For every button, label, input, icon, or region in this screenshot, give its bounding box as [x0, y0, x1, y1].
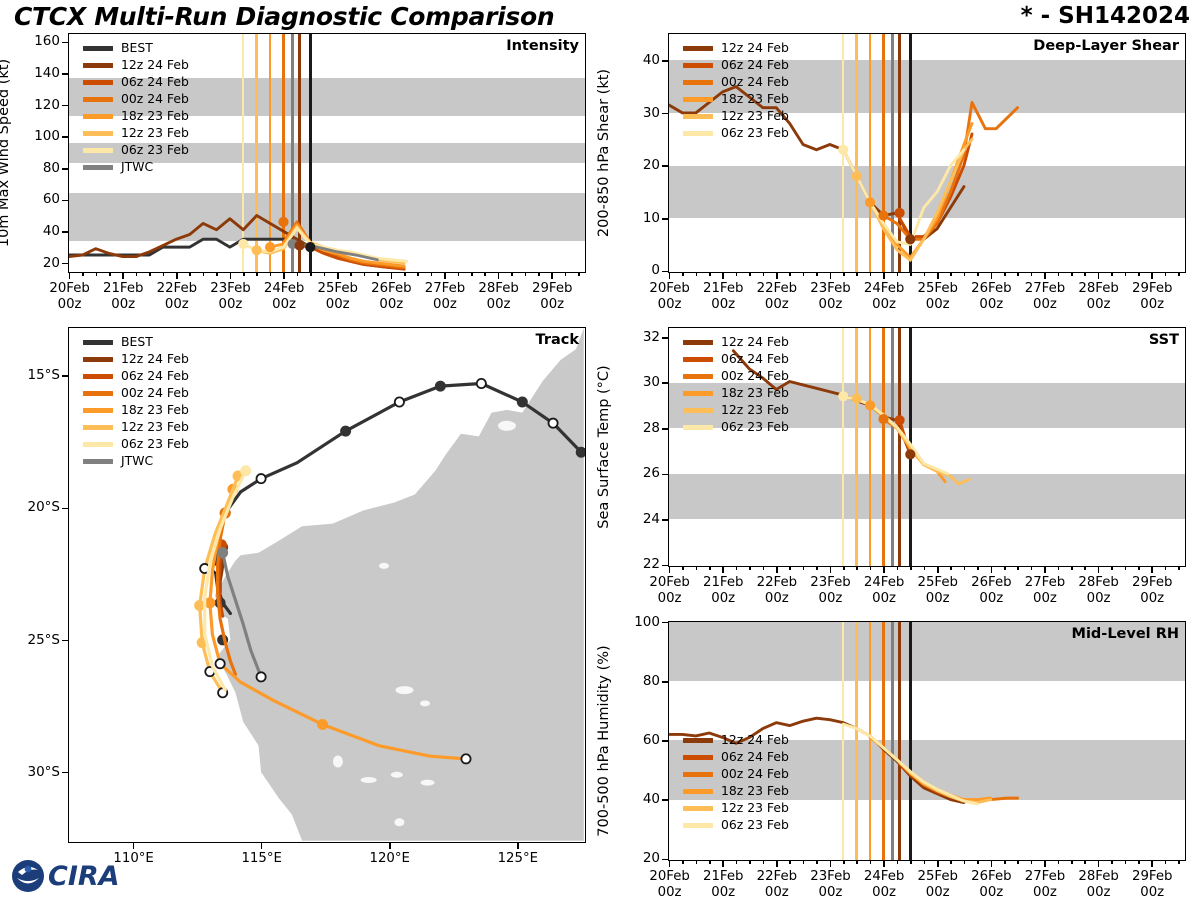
x-minor-tick: [149, 272, 151, 276]
legend-swatch: [683, 340, 713, 345]
legend-swatch: [83, 408, 113, 413]
legend-sst: 12z 24 Feb06z 24 Feb00z 24 Feb18z 23 Feb…: [683, 334, 789, 436]
legend-label: 06z 24 Feb: [721, 353, 789, 365]
x-minor-tick: [256, 272, 258, 276]
y-tick-mark: [662, 337, 669, 339]
x-minor-tick: [977, 566, 979, 570]
y-tick-label: 22: [622, 556, 660, 572]
x-tick-mark: [1044, 566, 1046, 573]
x-tick-mark: [830, 566, 832, 573]
legend-swatch: [83, 80, 113, 85]
y-tick-label: 40: [22, 223, 60, 239]
x-minor-tick: [1111, 860, 1113, 864]
legend-row: 12z 24 Feb: [83, 351, 189, 368]
y-tick-mark: [62, 105, 69, 107]
series-marker: [879, 415, 887, 423]
series-marker: [852, 394, 860, 402]
track-marker: [461, 754, 470, 763]
legend-swatch: [83, 148, 113, 153]
legend-swatch: [83, 131, 113, 136]
x-minor-tick: [1178, 566, 1180, 570]
legend-row: 12z 24 Feb: [683, 732, 789, 749]
legend-label: 12z 23 Feb: [121, 127, 189, 139]
series-marker: [266, 243, 274, 251]
track-marker: [577, 448, 586, 457]
x-minor-tick: [1178, 860, 1180, 864]
y-tick-label: 80: [622, 673, 660, 689]
x-minor-tick: [565, 272, 567, 276]
track-line: [215, 384, 581, 614]
y-tick-label: 100: [22, 128, 60, 144]
series-marker: [895, 416, 903, 424]
x-minor-tick: [816, 272, 818, 276]
legend-swatch: [83, 63, 113, 68]
legend-swatch: [83, 425, 113, 430]
y-tick-mark: [662, 681, 669, 683]
track-y-tick-label: 20°S: [6, 499, 60, 515]
x-minor-tick: [297, 272, 299, 276]
x-minor-tick: [1017, 860, 1019, 864]
track-y-tick-label: 30°S: [6, 764, 60, 780]
series-line: [843, 724, 977, 804]
x-minor-tick: [484, 272, 486, 276]
legend-row: 18z 23 Feb: [83, 108, 189, 125]
x-tick-mark: [1098, 272, 1100, 279]
legend-label: 12z 23 Feb: [721, 802, 789, 814]
x-minor-tick: [749, 566, 751, 570]
legend-swatch: [83, 46, 113, 51]
x-minor-tick: [1125, 860, 1127, 864]
series-marker: [839, 392, 847, 400]
x-tick-mark: [883, 860, 885, 867]
legend-row: 06z 24 Feb: [83, 368, 189, 385]
x-minor-tick: [538, 272, 540, 276]
legend-row: 00z 24 Feb: [683, 74, 789, 91]
track-marker: [477, 379, 486, 388]
track-y-tick-mark: [62, 772, 69, 774]
legend-row: 18z 23 Feb: [683, 91, 789, 108]
x-minor-tick: [924, 272, 926, 276]
x-minor-tick: [696, 272, 698, 276]
track-marker: [436, 382, 445, 391]
x-minor-tick: [763, 860, 765, 864]
legend-row: 00z 24 Feb: [683, 766, 789, 783]
track-x-tick-label: 120°E: [350, 851, 430, 867]
x-minor-tick: [682, 860, 684, 864]
legend-swatch: [83, 459, 113, 464]
y-tick-mark: [62, 168, 69, 170]
legend-row: 06z 23 Feb: [83, 142, 189, 159]
panel-title-intensity: Intensity: [506, 38, 579, 54]
x-minor-tick: [897, 272, 899, 276]
page-title: CTCX Multi-Run Diagnostic Comparison: [14, 2, 554, 31]
legend-swatch: [683, 789, 713, 794]
x-minor-tick: [216, 272, 218, 276]
y-tick-mark: [62, 200, 69, 202]
x-minor-tick: [803, 272, 805, 276]
x-minor-tick: [964, 566, 966, 570]
x-minor-tick: [82, 272, 84, 276]
x-minor-tick: [1111, 566, 1113, 570]
legend-swatch: [83, 165, 113, 170]
y-tick-label: 160: [22, 33, 60, 49]
x-minor-tick: [458, 272, 460, 276]
panel-intensity: IntensityBEST12z 24 Feb06z 24 Feb00z 24 …: [68, 33, 586, 273]
x-minor-tick: [1138, 566, 1140, 570]
x-minor-tick: [696, 860, 698, 864]
legend-swatch: [683, 425, 713, 430]
legend-label: 06z 23 Feb: [721, 819, 789, 831]
y-tick-label: 30: [622, 105, 660, 121]
y-tick-label: 0: [622, 262, 660, 278]
track-y-tick-label: 15°S: [6, 367, 60, 383]
x-tick-label: 29Feb00z: [1118, 869, 1186, 900]
legend-label: 00z 24 Feb: [121, 93, 189, 105]
legend-rh: 12z 24 Feb06z 24 Feb00z 24 Feb18z 23 Feb…: [683, 732, 789, 834]
x-minor-tick: [977, 860, 979, 864]
y-tick-label: 60: [22, 191, 60, 207]
y-tick-label: 40: [622, 52, 660, 68]
legend-label: 12z 24 Feb: [121, 59, 189, 71]
x-tick-mark: [991, 272, 993, 279]
y-tick-mark: [662, 218, 669, 220]
y-tick-mark: [62, 263, 69, 265]
series-marker: [839, 146, 847, 154]
legend-swatch: [683, 80, 713, 85]
x-minor-tick: [1017, 566, 1019, 570]
x-minor-tick: [243, 272, 245, 276]
legend-label: 18z 23 Feb: [721, 387, 789, 399]
x-minor-tick: [136, 272, 138, 276]
legend-label: 12z 24 Feb: [721, 336, 789, 348]
series-line: [884, 102, 1018, 239]
y-tick-mark: [62, 136, 69, 138]
legend-label: 06z 24 Feb: [121, 370, 189, 382]
x-minor-tick: [709, 566, 711, 570]
legend-row: 06z 24 Feb: [683, 57, 789, 74]
x-minor-tick: [1125, 272, 1127, 276]
x-minor-tick: [189, 272, 191, 276]
panel-sst: SST12z 24 Feb06z 24 Feb00z 24 Feb18z 23 …: [668, 327, 1186, 567]
track-marker: [195, 601, 204, 610]
x-tick-mark: [1151, 272, 1153, 279]
x-minor-tick: [1111, 272, 1113, 276]
panel-title-sst: SST: [1149, 332, 1179, 348]
x-tick-mark: [122, 272, 124, 279]
track-marker: [205, 598, 214, 607]
legend-swatch: [83, 357, 113, 362]
legend-swatch: [83, 114, 113, 119]
y-tick-label: 20: [22, 255, 60, 271]
x-minor-tick: [364, 272, 366, 276]
track-marker: [256, 474, 265, 483]
legend-label: 12z 24 Feb: [721, 734, 789, 746]
track-marker: [341, 426, 350, 435]
y-tick-mark: [662, 519, 669, 521]
y-axis-label-rh: 700-500 hPa Humidity (%): [596, 645, 612, 836]
x-minor-tick: [749, 860, 751, 864]
y-tick-label: 26: [622, 465, 660, 481]
legend-label: 00z 24 Feb: [721, 370, 789, 382]
series-marker: [279, 218, 287, 226]
y-tick-label: 30: [622, 374, 660, 390]
x-minor-tick: [163, 272, 165, 276]
x-minor-tick: [1058, 860, 1060, 864]
series-marker: [866, 401, 874, 409]
track-x-tick-label: 125°E: [478, 851, 558, 867]
legend-row: 12z 24 Feb: [683, 334, 789, 351]
legend-swatch: [683, 391, 713, 396]
legend-label: 00z 24 Feb: [121, 387, 189, 399]
x-minor-tick: [870, 272, 872, 276]
legend-row: 18z 23 Feb: [683, 783, 789, 800]
y-tick-mark: [62, 231, 69, 233]
x-minor-tick: [816, 860, 818, 864]
series-marker: [906, 235, 914, 243]
x-minor-tick: [870, 566, 872, 570]
x-tick-mark: [1098, 860, 1100, 867]
legend-row: 06z 24 Feb: [83, 74, 189, 91]
x-tick-mark: [551, 272, 553, 279]
x-minor-tick: [417, 272, 419, 276]
x-minor-tick: [1084, 860, 1086, 864]
x-tick-mark: [722, 860, 724, 867]
y-tick-label: 140: [22, 65, 60, 81]
x-minor-tick: [910, 860, 912, 864]
x-minor-tick: [749, 272, 751, 276]
y-tick-mark: [62, 42, 69, 44]
legend-swatch: [683, 131, 713, 136]
legend-swatch: [83, 391, 113, 396]
legend-row: 12z 23 Feb: [83, 419, 189, 436]
svg-text:CIRA: CIRA: [48, 861, 120, 892]
x-minor-tick: [1058, 566, 1060, 570]
track-marker: [518, 397, 527, 406]
x-minor-tick: [1071, 566, 1073, 570]
x-minor-tick: [1031, 566, 1033, 570]
y-tick-label: 80: [22, 160, 60, 176]
noaa-seal-icon: [12, 860, 44, 892]
x-minor-tick: [1165, 860, 1167, 864]
x-minor-tick: [1071, 860, 1073, 864]
legend-label: 06z 23 Feb: [121, 438, 189, 450]
x-minor-tick: [709, 272, 711, 276]
legend-row: JTWC: [83, 159, 189, 176]
track-x-tick-mark: [133, 842, 135, 849]
legend-label: 06z 23 Feb: [721, 127, 789, 139]
legend-row: BEST: [83, 40, 189, 57]
x-minor-tick: [910, 272, 912, 276]
x-tick-mark: [1098, 566, 1100, 573]
series-line: [857, 729, 991, 803]
x-minor-tick: [1084, 272, 1086, 276]
legend-swatch: [683, 772, 713, 777]
track-line: [210, 489, 466, 759]
x-tick-mark: [669, 566, 671, 573]
x-tick-mark: [498, 272, 500, 279]
legend-label: 06z 24 Feb: [121, 76, 189, 88]
track-marker: [241, 466, 250, 475]
x-minor-tick: [696, 566, 698, 570]
x-minor-tick: [1004, 566, 1006, 570]
y-tick-label: 24: [622, 511, 660, 527]
legend-label: 18z 23 Feb: [721, 93, 789, 105]
x-tick-mark: [830, 272, 832, 279]
x-minor-tick: [897, 860, 899, 864]
x-tick-mark: [830, 860, 832, 867]
x-minor-tick: [471, 272, 473, 276]
x-minor-tick: [843, 860, 845, 864]
legend-row: 06z 23 Feb: [83, 436, 189, 453]
y-tick-mark: [62, 73, 69, 75]
x-tick-mark: [669, 272, 671, 279]
legend-row: 18z 23 Feb: [83, 402, 189, 419]
x-tick-mark: [337, 272, 339, 279]
legend-label: 00z 24 Feb: [721, 768, 789, 780]
x-minor-tick: [924, 860, 926, 864]
x-minor-tick: [1138, 272, 1140, 276]
y-tick-label: 100: [622, 614, 660, 630]
track-marker: [318, 720, 327, 729]
y-tick-mark: [662, 165, 669, 167]
y-axis-label-intensity: 10m Max Wind Speed (kt): [0, 59, 12, 247]
x-tick-mark: [937, 566, 939, 573]
x-tick-mark: [1151, 566, 1153, 573]
x-tick-mark: [776, 272, 778, 279]
x-minor-tick: [870, 860, 872, 864]
x-tick-mark: [69, 272, 71, 279]
x-tick-mark: [669, 860, 671, 867]
legend-label: 06z 24 Feb: [721, 751, 789, 763]
y-tick-mark: [662, 113, 669, 115]
legend-swatch: [683, 97, 713, 102]
panel-title-track: Track: [536, 332, 579, 348]
series-line: [843, 396, 948, 473]
track-x-tick-mark: [389, 842, 391, 849]
x-tick-mark: [937, 272, 939, 279]
x-minor-tick: [1165, 566, 1167, 570]
track-marker: [395, 397, 404, 406]
x-minor-tick: [964, 860, 966, 864]
x-minor-tick: [856, 272, 858, 276]
x-tick-mark: [937, 860, 939, 867]
legend-swatch: [83, 374, 113, 379]
x-minor-tick: [1138, 860, 1140, 864]
series-line: [857, 399, 970, 484]
x-minor-tick: [525, 272, 527, 276]
track-marker: [216, 659, 225, 668]
x-minor-tick: [1031, 860, 1033, 864]
x-minor-tick: [803, 566, 805, 570]
series-marker: [852, 172, 860, 180]
series-line: [884, 748, 1018, 801]
x-tick-label: 29Feb00z: [1118, 575, 1186, 606]
legend-row: 18z 23 Feb: [683, 385, 789, 402]
track-y-tick-mark: [62, 508, 69, 510]
legend-row: 12z 23 Feb: [683, 402, 789, 419]
x-tick-mark: [991, 566, 993, 573]
x-tick-mark: [1044, 860, 1046, 867]
legend-row: 12z 24 Feb: [83, 57, 189, 74]
x-minor-tick: [709, 860, 711, 864]
y-tick-label: 28: [622, 420, 660, 436]
legend-swatch: [683, 374, 713, 379]
series-marker: [895, 209, 903, 217]
x-minor-tick: [1017, 272, 1019, 276]
x-minor-tick: [910, 566, 912, 570]
legend-row: 00z 24 Feb: [683, 368, 789, 385]
track-y-tick-mark: [62, 640, 69, 642]
legend-label: 18z 23 Feb: [721, 785, 789, 797]
track-x-tick-mark: [261, 842, 263, 849]
legend-swatch: [683, 63, 713, 68]
x-minor-tick: [1084, 566, 1086, 570]
y-axis-label-shear: 200-850 hPa Shear (kt): [596, 69, 612, 237]
x-minor-tick: [270, 272, 272, 276]
legend-label: 06z 24 Feb: [721, 59, 789, 71]
series-marker: [239, 240, 247, 248]
y-tick-label: 20: [622, 157, 660, 173]
panel-title-rh: Mid-Level RH: [1072, 626, 1179, 642]
x-minor-tick: [682, 566, 684, 570]
x-minor-tick: [924, 566, 926, 570]
x-minor-tick: [843, 566, 845, 570]
x-minor-tick: [736, 272, 738, 276]
legend-swatch: [83, 97, 113, 102]
x-minor-tick: [816, 566, 818, 570]
y-tick-mark: [662, 799, 669, 801]
y-tick-mark: [662, 60, 669, 62]
x-tick-mark: [391, 272, 393, 279]
legend-row: BEST: [83, 334, 189, 351]
legend-label: 12z 23 Feb: [721, 404, 789, 416]
x-tick-mark: [883, 566, 885, 573]
panel-track: TrackBEST12z 24 Feb06z 24 Feb00z 24 Feb1…: [68, 327, 586, 843]
x-minor-tick: [1031, 272, 1033, 276]
y-tick-label: 20: [622, 850, 660, 866]
track-x-tick-mark: [517, 842, 519, 849]
x-minor-tick: [1165, 272, 1167, 276]
x-tick-mark: [991, 860, 993, 867]
legend-row: 06z 23 Feb: [683, 125, 789, 142]
legend-label: 12z 23 Feb: [721, 110, 789, 122]
legend-row: 12z 23 Feb: [683, 108, 789, 125]
x-minor-tick: [856, 860, 858, 864]
y-axis-label-sst: Sea Surface Temp (°C): [596, 365, 612, 528]
storm-id-label: * - SH142024: [1021, 3, 1190, 29]
y-tick-mark: [662, 474, 669, 476]
x-minor-tick: [109, 272, 111, 276]
legend-swatch: [683, 46, 713, 51]
x-minor-tick: [856, 566, 858, 570]
panel-rh: Mid-Level RH12z 24 Feb06z 24 Feb00z 24 F…: [668, 621, 1186, 861]
x-minor-tick: [1178, 272, 1180, 276]
legend-label: 12z 24 Feb: [721, 42, 789, 54]
legend-swatch: [683, 408, 713, 413]
y-tick-mark: [662, 740, 669, 742]
x-minor-tick: [324, 272, 326, 276]
x-minor-tick: [682, 272, 684, 276]
x-minor-tick: [431, 272, 433, 276]
x-minor-tick: [404, 272, 406, 276]
y-tick-label: 32: [622, 329, 660, 345]
legend-row: 12z 23 Feb: [83, 125, 189, 142]
legend-row: 12z 24 Feb: [683, 40, 789, 57]
y-tick-mark: [662, 382, 669, 384]
x-minor-tick: [736, 566, 738, 570]
legend-shear: 12z 24 Feb06z 24 Feb00z 24 Feb18z 23 Feb…: [683, 40, 789, 142]
x-minor-tick: [377, 272, 379, 276]
